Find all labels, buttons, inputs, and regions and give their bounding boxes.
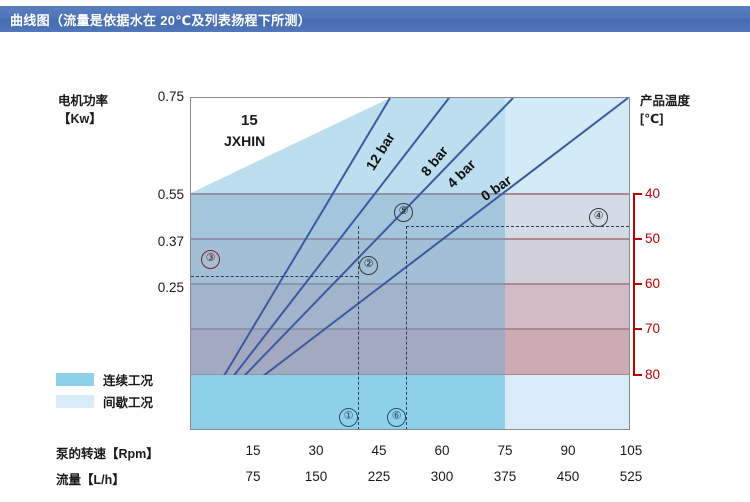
annotation-6: ⑥ [387,408,406,427]
x-axis-row-rpm-label: 泵的转速【Rpm】 [56,443,159,462]
y2-tick-1: 50 [645,231,660,246]
y2-tick-mark-2 [633,283,642,285]
x-tick-rpm-3: 60 [420,443,464,458]
y-axis-title-line2: 【Kw】 [58,110,108,128]
y-axis-title: 电机功率 【Kw】 [58,92,108,128]
annotation-4: ④ [589,208,608,227]
y-tick-0: 0.75 [136,89,184,104]
y2-tick-mark-4 [633,374,642,376]
y2-tick-3: 70 [645,321,660,336]
x-tick-rpm-0: 15 [231,443,275,458]
x-axis-table: 泵的转速【Rpm】 15 30 45 60 75 90 105 流量【L/h】 … [0,443,750,495]
x-axis-row-flow-label: 流量【L/h】 [56,469,125,488]
x-tick-flow-3: 300 [420,469,464,484]
legend-item-continuous: 连续工况 [56,368,153,390]
y-tick-1: 0.55 [136,187,184,202]
y-axis-title-line1: 电机功率 [58,92,108,110]
intermittent-duty-footer [505,375,629,430]
x-tick-flow-4: 375 [483,469,527,484]
annotation-2: ② [359,256,378,275]
y2-tick-0: 40 [645,186,660,201]
legend-swatch-intermittent [56,395,94,408]
y2-tick-mark-3 [633,328,642,330]
x-tick-rpm-1: 30 [294,443,338,458]
legend-swatch-continuous [56,373,94,386]
y-tick-3: 0.25 [136,280,184,295]
y2-tick-4: 80 [645,367,660,382]
model-number: 15 [241,112,258,129]
x-tick-flow-0: 75 [231,469,275,484]
x-tick-flow-5: 450 [546,469,590,484]
dashed-line-rpm-1 [358,226,359,430]
x-axis-row-flow: 流量【L/h】 75 150 225 300 375 450 525 [0,469,750,495]
dashed-line-rpm-6 [406,226,407,430]
x-tick-rpm-2: 45 [357,443,401,458]
annotation-5: ⑤ [394,203,413,222]
curve-chart: 电机功率 【Kw】 产品温度 [℃] 0.75 0.55 0.37 0.25 4… [0,0,750,502]
x-tick-flow-1: 150 [294,469,338,484]
y2-tick-2: 60 [645,276,660,291]
dashed-line-power-3 [191,276,358,277]
y2-axis-title: 产品温度 [℃] [640,92,690,128]
annotation-3: ③ [201,250,220,269]
chart-legend: 连续工况 间歇工况 [56,368,153,412]
model-name: JXHIN [224,133,265,149]
y2-axis-title-line2: [℃] [640,110,690,128]
legend-label-intermittent: 间歇工况 [103,392,153,411]
x-tick-rpm-6: 105 [609,443,653,458]
y2-tick-mark-0 [633,193,642,195]
y2-tick-mark-1 [633,238,642,240]
x-tick-rpm-5: 90 [546,443,590,458]
annotation-1: ① [339,408,358,427]
x-tick-rpm-4: 75 [483,443,527,458]
x-axis-row-rpm: 泵的转速【Rpm】 15 30 45 60 75 90 105 [0,443,750,469]
y-tick-2: 0.37 [136,234,184,249]
x-tick-flow-6: 525 [609,469,653,484]
y2-axis-title-line1: 产品温度 [640,92,690,110]
legend-label-continuous: 连续工况 [103,370,153,389]
x-tick-flow-2: 225 [357,469,401,484]
legend-item-intermittent: 间歇工况 [56,390,153,412]
